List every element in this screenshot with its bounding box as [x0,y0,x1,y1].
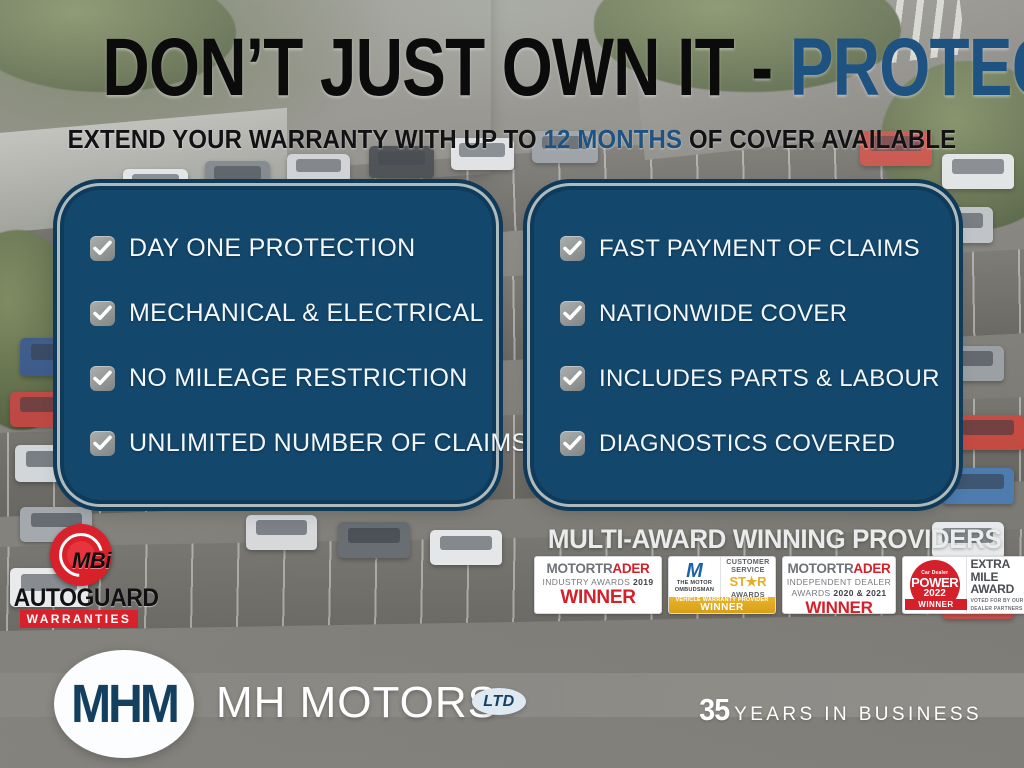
years-in-business: 35 YEARS IN BUSINESS [698,692,982,728]
extra-mile-line-3: AWARD [970,583,1024,596]
badge-winner-label: WINNER [535,587,661,609]
brand-grey: MOTORTR [788,561,854,576]
feature-label: DIAGNOSTICS COVERED [599,430,895,458]
extra-mile-sub-1: VOTED FOR BY OUR [970,598,1024,604]
brand-red: ADER [612,561,649,576]
subtitle: EXTEND YOUR WARRANTY WITH UP TO 12 MONTH… [41,124,983,155]
badge-subtitle-text: INDUSTRY AWARDS [543,577,633,587]
feature-item: DIAGNOSTICS COVERED [552,430,934,458]
awards-title: MULTI-AWARD WINNING PROVIDERS [548,524,1022,555]
feature-label: NATIONWIDE COVER [599,300,847,328]
subtitle-highlight: 12 MONTHS [544,124,683,154]
power-circle-block: Car Dealer POWER 2022 WINNER [903,557,966,613]
badge-brand: MOTORTRADER [535,561,661,576]
autoguard-warranties-logo: MBi AUTOGUARD WARRANTIES [14,524,144,628]
checkmark-icon [560,366,585,391]
ombudsman-org-name: THE MOTOR OMBUDSMAN [669,580,720,593]
company-name: MH MOTORS [216,678,498,728]
headline-primary: DON’T JUST OWN IT - [102,22,789,113]
ltd-badge: LTD [472,688,526,715]
badge-year: 2019 [633,577,654,587]
checkmark-icon [560,236,585,261]
headline-accent: PROTECT IT [790,22,1024,113]
subtitle-part1: EXTEND YOUR WARRANTY WITH UP TO [68,124,544,154]
award-badge-motortrader-industry-2019: MOTORTRADER INDUSTRY AWARDS 2019 WINNER [534,556,662,614]
badge-subtitle-2: AWARDS 2020 & 2021 [783,588,895,598]
autoguard-name: AUTOGUARD [14,584,143,613]
mbi-mark: MBi [72,548,111,574]
feature-item: FAST PAYMENT OF CLAIMS [552,235,934,263]
badge-winner-label: WINNER [783,598,895,614]
ribbon-winner: WINNER [669,602,775,613]
award-badge-motortrader-dealer-2020-2021: MOTORTRADER INDEPENDENT DEALER AWARDS 20… [782,556,896,614]
checkmark-icon [90,301,115,326]
autoguard-subtitle: WARRANTIES [20,610,138,628]
subtitle-part2: OF COVER AVAILABLE [682,124,956,154]
mhm-logo-letters: MHM [71,673,177,735]
feature-label: FAST PAYMENT OF CLAIMS [599,235,920,263]
award-badges: MOTORTRADER INDUSTRY AWARDS 2019 WINNER … [534,556,1024,614]
ombudsman-block: M THE MOTOR OMBUDSMAN [669,557,720,599]
badge-subtitle: INDUSTRY AWARDS 2019 [535,577,661,587]
checkmark-icon [90,236,115,261]
feature-item: INCLUDES PARTS & LABOUR [552,365,934,393]
years-number: 35 [699,692,729,728]
feature-box-left: DAY ONE PROTECTION MECHANICAL & ELECTRIC… [64,190,492,500]
feature-item: NO MILEAGE RESTRICTION [82,364,474,393]
feature-label: MECHANICAL & ELECTRICAL [129,299,484,328]
badge-content: M THE MOTOR OMBUDSMAN CUSTOMER SERVICE S… [669,557,775,599]
badge-ribbon: VEHICLE WARRANTY PROVIDERWINNER [669,597,775,613]
feature-label: UNLIMITED NUMBER OF CLAIMS [129,429,529,458]
award-badge-motor-ombudsman-star: M THE MOTOR OMBUDSMAN CUSTOMER SERVICE S… [668,556,776,614]
checkmark-icon [560,431,585,456]
warranty-promo-banner: DON’T JUST OWN IT - PROTECT IT EXTEND YO… [0,0,1024,768]
checkmark-icon [90,431,115,456]
badge-brand: MOTORTRADER [783,561,895,576]
feature-item: NATIONWIDE COVER [552,300,934,328]
ombudsman-m-logo-icon: M [686,562,703,580]
award-line-2: SERVICE [731,566,765,574]
checkmark-icon [90,366,115,391]
badge-awards-word: AWARDS [792,588,834,598]
awards-section: MULTI-AWARD WINNING PROVIDERS MOTORTRADE… [530,524,1024,628]
power-winner-ribbon: WINNER [905,599,967,610]
power-year: 2022 [924,589,946,599]
feature-label: NO MILEAGE RESTRICTION [129,364,468,393]
brand-grey: MOTORTR [547,561,613,576]
award-badge-car-dealer-power-2022: Car Dealer POWER 2022 WINNER EXTRA MILE … [902,556,1024,614]
feature-box-right: FAST PAYMENT OF CLAIMS NATIONWIDE COVER … [534,190,952,500]
badge-years: 2020 & 2021 [833,588,886,598]
badge-subtitle: INDEPENDENT DEALER [783,577,895,587]
extra-mile-block: EXTRA MILE AWARD VOTED FOR BY OUR DEALER… [966,557,1024,613]
checkmark-icon [560,301,585,326]
brand-red: ADER [853,561,890,576]
feature-label: INCLUDES PARTS & LABOUR [599,365,940,393]
mhm-logo-icon[interactable]: MHM [54,650,194,758]
page-title: DON’T JUST OWN IT - PROTECT IT [102,26,921,110]
star-award-block: CUSTOMER SERVICE ST★R AWARDS [720,557,775,599]
feature-boxes: DAY ONE PROTECTION MECHANICAL & ELECTRIC… [64,190,990,500]
feature-item: DAY ONE PROTECTION [82,234,474,263]
extra-mile-line-1: EXTRA [970,558,1024,571]
feature-item: MECHANICAL & ELECTRICAL [82,299,474,328]
extra-mile-sub-2: DEALER PARTNERS [970,606,1024,612]
years-label: YEARS IN BUSINESS [734,704,982,726]
feature-label: DAY ONE PROTECTION [129,234,415,263]
feature-item: UNLIMITED NUMBER OF CLAIMS [82,429,474,458]
footer-bar: MHM MH MOTORS LTD 35 YEARS IN BUSINESS [0,640,1024,768]
star-icon-text: ST★R [730,574,767,590]
